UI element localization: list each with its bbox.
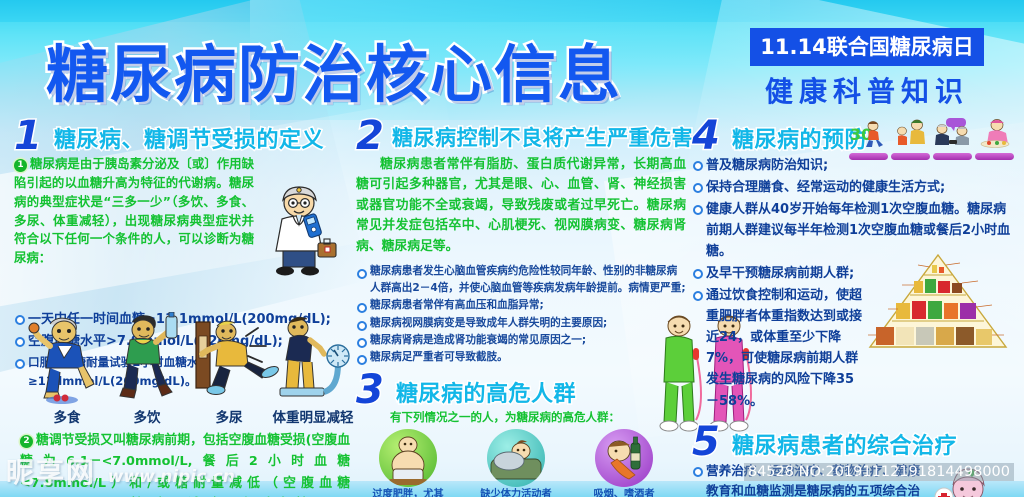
section-2-title: 糖尿病控制不良将产生严重危害: [392, 122, 693, 152]
symptom-label: 多饮: [116, 406, 178, 426]
section-1-number: 1: [14, 116, 42, 156]
symptom-label: 多尿: [198, 406, 260, 426]
section-1-heading: 1 糖尿病、糖调节受损的定义: [14, 122, 350, 152]
risk-caption: 缺少体力活动者: [464, 489, 568, 497]
healthy-meal-icon: [975, 118, 1014, 160]
watermark-url: www.nipic.cn: [108, 467, 235, 487]
doctor-consultation-icon: [933, 118, 972, 160]
prevention-icon-row: 30: [849, 118, 1014, 160]
symptom-label: 多食: [34, 406, 100, 426]
list-item: 糖尿病足严重者可导致截肢。: [356, 349, 686, 365]
risk-item: 过度肥胖，尤其 是腹部肥胖者: [356, 429, 460, 497]
risk-row-1: 过度肥胖，尤其 是腹部肥胖者 缺少体力活动者: [356, 429, 686, 497]
food-pyramid-icon: [862, 251, 1014, 355]
watermark-right: 84528 NO:20191112191814498000: [744, 463, 1014, 481]
page-title: 糖尿病防治核心信息: [46, 24, 622, 114]
man-drinking-icon: [108, 312, 184, 404]
risk-factor-grid: 过度肥胖，尤其 是腹部肥胖者 缺少体力活动者: [356, 429, 686, 497]
watermark-brand: 昵享网: [6, 456, 96, 489]
status-badge: 11.14联合国糖尿病日: [750, 28, 983, 66]
man-eating-icon: [28, 316, 106, 404]
section-3-number: 3: [356, 370, 384, 410]
man-on-scale-icon: [272, 314, 350, 404]
section-2-heading: 2 糖尿病控制不良将产生严重危害: [356, 122, 686, 152]
list-item: 普及糖尿病防治知识;: [692, 155, 1014, 176]
watermark-left: 昵享网 www.nipic.cn: [6, 451, 235, 491]
section-3-subnote: 有下列情况之一的人，为糖尿病的高危人群：: [390, 409, 686, 425]
sedentary-person-icon: [487, 429, 545, 487]
symptom-illustration-row: 多食 多饮: [24, 308, 350, 426]
section-5-number: 5: [692, 422, 720, 462]
section-3-heading: 3 糖尿病的高危人群: [356, 376, 686, 406]
poster-header: 糖尿病防治核心信息 11.14联合国糖尿病日 健康科普知识: [0, 16, 1024, 116]
section-3-title: 糖尿病的高危人群: [396, 376, 576, 408]
doctor-with-glucometer-icon: [252, 185, 348, 281]
section-4-title: 糖尿病的预防: [732, 122, 867, 154]
section-4-heading: 4 糖尿病的预防 30: [692, 122, 1014, 152]
section-4-number: 4: [692, 116, 720, 156]
list-item: 糖尿病肾病是造成肾功能衰竭的常见原因之一;: [356, 332, 686, 348]
header-badge-group: 11.14联合国糖尿病日 健康科普知识: [736, 28, 998, 110]
section-2-paragraph: 糖尿病患者常伴有脂肪、蛋白质代谢异常，长期高血糖可引起多种器官，尤其是眼、心、血…: [356, 155, 686, 257]
section-5-title: 糖尿病患者的综合治疗: [732, 428, 957, 460]
list-item: 保持合理膳食、经常运动的健康生活方式;: [692, 177, 1014, 198]
symptom-label: 体重明显减轻: [270, 406, 356, 426]
section-2-harms-list: 糖尿病患者发生心脑血管疾病约危险性较同年龄、性别的非糖尿病人群高出2－4倍，并使…: [356, 263, 686, 365]
section-2-number: 2: [356, 116, 384, 156]
list-item: 糖尿病患者常伴有高血压和血脂异常;: [356, 297, 686, 313]
father-and-child-icon: [891, 118, 930, 160]
list-item: 糖尿病患者发生心脑血管疾病约危险性较同年龄、性别的非糖尿病人群高出2－4倍，并使…: [356, 263, 686, 296]
section-5-heading: 5 糖尿病患者的综合治疗: [692, 428, 1014, 458]
column-middle: 2 糖尿病控制不良将产生严重危害 糖尿病患者常伴有脂肪、蛋白质代谢异常，长期高血…: [356, 122, 686, 497]
poster-canvas: 糖尿病防治核心信息 11.14联合国糖尿病日 健康科普知识 1 糖尿病、糖调节受…: [0, 0, 1024, 497]
header-subtitle: 健康科普知识: [736, 70, 998, 110]
risk-caption: 过度肥胖，尤其 是腹部肥胖者: [356, 489, 460, 497]
list-marker-2: 2: [20, 435, 33, 448]
risk-item: 缺少体力活动者: [464, 429, 568, 497]
list-item: 糖尿病视网膜病变是导致成年人群失明的主要原因;: [356, 315, 686, 331]
risk-caption: 吸烟、嗜酒者: [572, 489, 676, 497]
exercise-30min-icon: 30: [849, 118, 888, 160]
obese-person-icon: [379, 429, 437, 487]
column-right: 4 糖尿病的预防 30: [692, 122, 1014, 497]
column-left: 1 糖尿病、糖调节受损的定义: [14, 122, 350, 391]
list-marker-1: 1: [14, 159, 27, 172]
man-urinating-icon: [184, 318, 280, 404]
section-1-title: 糖尿病、糖调节受损的定义: [54, 122, 324, 154]
